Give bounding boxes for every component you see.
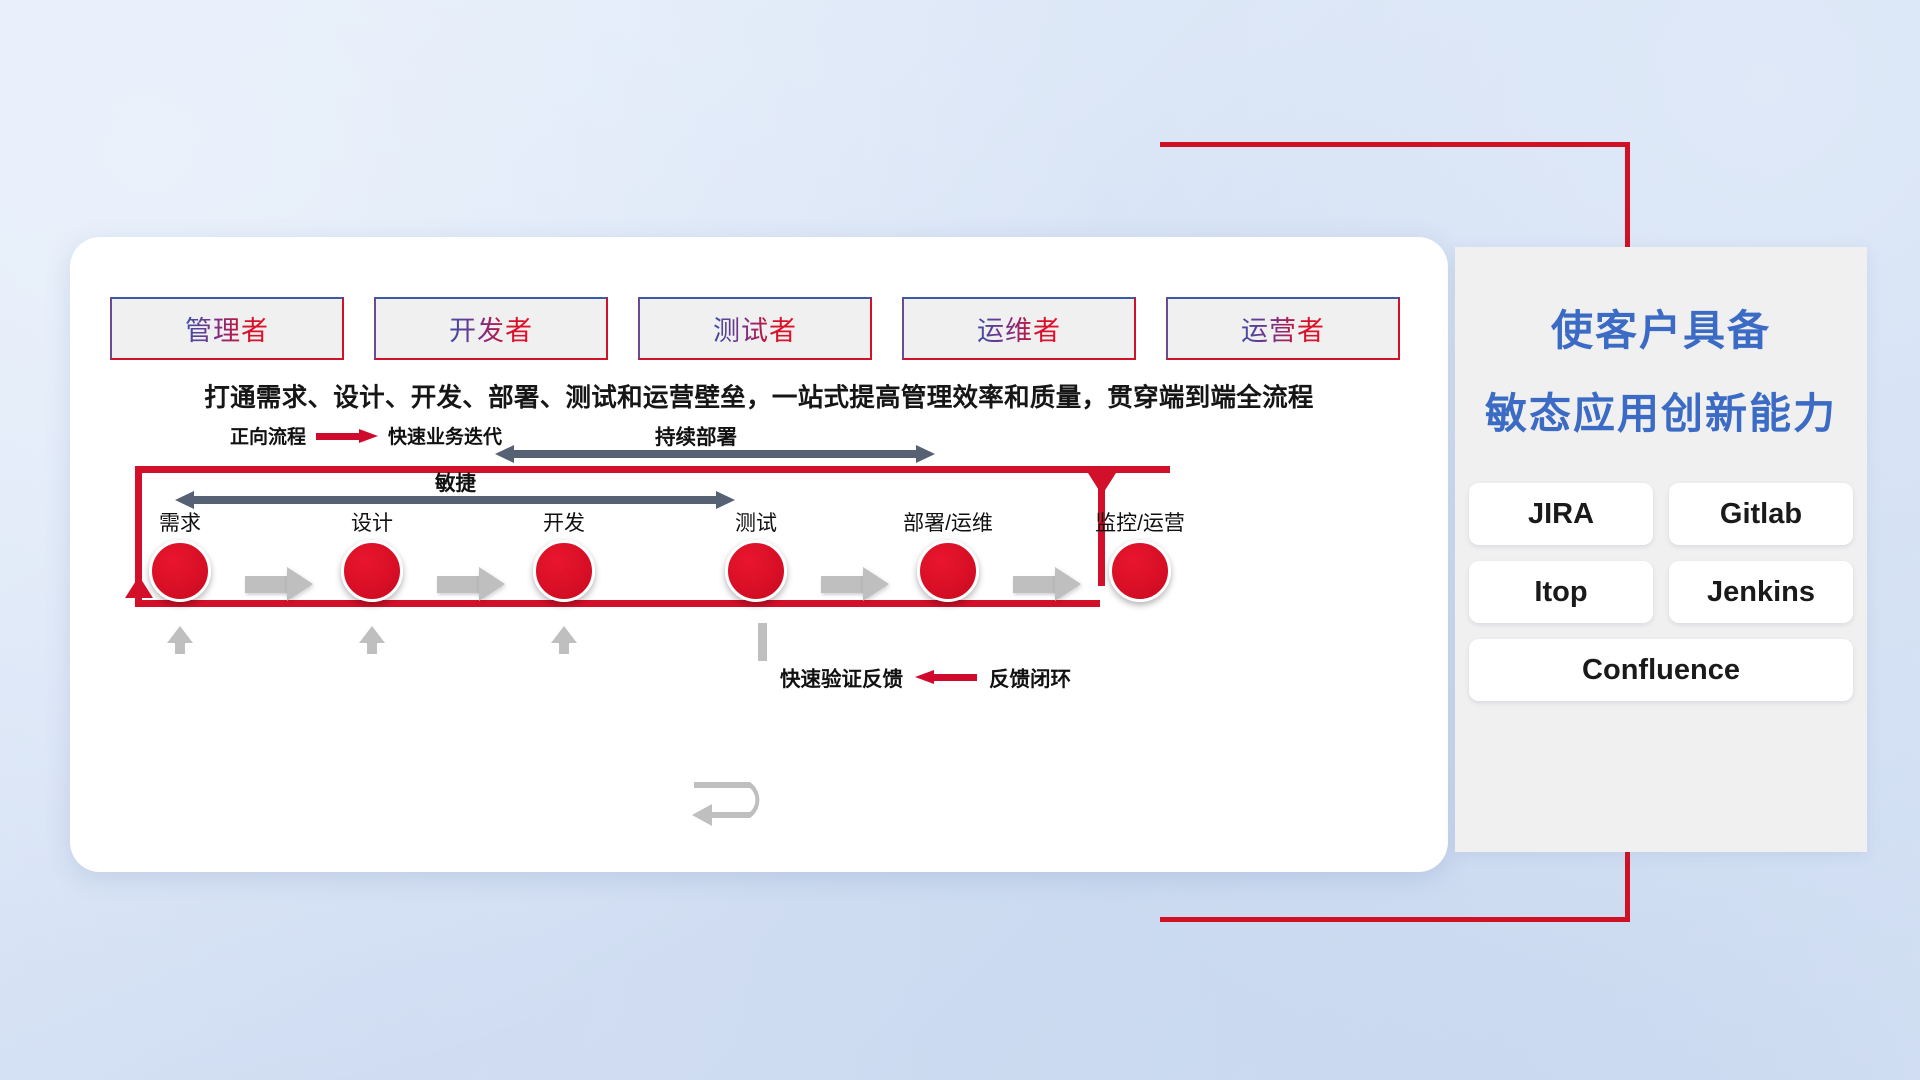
- arrow-tip: [551, 626, 577, 643]
- stage-node-4[interactable]: 部署/运维: [883, 507, 1013, 602]
- stage-label: 部署/运维: [883, 507, 1013, 537]
- stage-dot: [341, 540, 403, 602]
- role-label: 运营者: [1241, 309, 1325, 348]
- roles-row: 管理者 开发者 测试者 运维者 运营者: [110, 297, 1400, 360]
- stage-label: 需求: [115, 507, 245, 537]
- legend-feedback-loop: 快速验证反馈 反馈闭环: [780, 662, 1071, 692]
- tool-chip-itop[interactable]: Itop: [1469, 561, 1653, 623]
- stage-node-2[interactable]: 开发: [499, 507, 629, 602]
- arrow-tip: [863, 567, 889, 601]
- tool-chip-jira[interactable]: JIRA: [1469, 483, 1653, 545]
- legend-feedback-right-label: 反馈闭环: [989, 662, 1071, 692]
- legend-forward-right-label: 快速业务迭代: [388, 422, 502, 449]
- role-box-3[interactable]: 运维者: [902, 297, 1136, 360]
- arrow-tip: [359, 626, 385, 643]
- legend-forward-flow: 正向流程 快速业务迭代: [230, 422, 502, 449]
- stage-dot: [725, 540, 787, 602]
- main-diagram-card: 管理者 开发者 测试者 运维者 运营者 打通需求、设计、开发、部署、测试和运营壁…: [70, 237, 1448, 872]
- stage-label: 监控/运营: [1075, 507, 1205, 537]
- role-label: 开发者: [449, 309, 533, 348]
- tool-chip-jenkins[interactable]: Jenkins: [1669, 561, 1853, 623]
- loop-back-arrow-icon: [688, 782, 774, 838]
- tool-chip-grid: JIRA Gitlab Itop Jenkins Confluence: [1455, 483, 1867, 701]
- stage-node-0[interactable]: 需求: [115, 507, 245, 602]
- double-arrow-continuous-deployment-icon: [495, 445, 935, 463]
- stage-dot: [1109, 540, 1171, 602]
- feedback-up-arrow-2-icon: [551, 626, 577, 652]
- role-label: 运维者: [977, 309, 1061, 348]
- red-loop-down-arrowhead-icon: [1088, 473, 1116, 495]
- side-panel-title: 使客户具备 敏态应用创新能力: [1455, 297, 1867, 441]
- side-panel-title-line2: 敏态应用创新能力: [1455, 380, 1867, 441]
- stage-dot: [917, 540, 979, 602]
- stage-node-3[interactable]: 测试: [691, 507, 821, 602]
- role-label: 管理者: [185, 309, 269, 348]
- stage-label: 开发: [499, 507, 629, 537]
- arrow-tip: [167, 626, 193, 643]
- arrow-shaft: [192, 496, 718, 504]
- flow-arrow-3-4-icon: [821, 567, 889, 601]
- legend-feedback-left-label: 快速验证反馈: [780, 662, 903, 692]
- tool-chip-confluence[interactable]: Confluence: [1469, 639, 1853, 701]
- stage-label: 设计: [307, 507, 437, 537]
- arrow-bar: [821, 576, 865, 593]
- tool-chip-gitlab[interactable]: Gitlab: [1669, 483, 1853, 545]
- role-box-4[interactable]: 运营者: [1166, 297, 1400, 360]
- flow-arrow-4-5-icon: [1013, 567, 1081, 601]
- arrow-bar: [245, 576, 289, 593]
- feedback-up-arrow-0-icon: [167, 626, 193, 652]
- arrow-stem: [559, 642, 569, 654]
- role-box-1[interactable]: 开发者: [374, 297, 608, 360]
- role-box-0[interactable]: 管理者: [110, 297, 344, 360]
- test-drop-connector: [758, 623, 767, 661]
- stage-node-1[interactable]: 设计: [307, 507, 437, 602]
- legend-forward-left-label: 正向流程: [230, 422, 306, 449]
- side-panel-title-line1: 使客户具备: [1455, 297, 1867, 358]
- arrow-bar: [1013, 576, 1057, 593]
- red-loop-top-segment: [135, 466, 1170, 473]
- stage-dot: [149, 540, 211, 602]
- feedback-up-arrow-1-icon: [359, 626, 385, 652]
- arrow-tip: [1055, 567, 1081, 601]
- arrow-stem: [175, 642, 185, 654]
- stage-dot: [533, 540, 595, 602]
- arrow-left-red-icon: [915, 670, 977, 684]
- description-text: 打通需求、设计、开发、部署、测试和运营壁垒，一站式提高管理效率和质量，贯穿端到端…: [70, 377, 1448, 414]
- arrow-stem: [367, 642, 377, 654]
- flow-arrow-0-1-icon: [245, 567, 313, 601]
- role-label: 测试者: [713, 309, 797, 348]
- arrow-shaft: [512, 450, 918, 458]
- side-panel: 使客户具备 敏态应用创新能力 JIRA Gitlab Itop Jenkins …: [1455, 247, 1867, 852]
- role-box-2[interactable]: 测试者: [638, 297, 872, 360]
- arrow-right-red-icon: [316, 429, 378, 443]
- stage-node-5[interactable]: 监控/运营: [1075, 507, 1205, 602]
- arrow-tip: [479, 567, 505, 601]
- arrow-head-right: [916, 445, 935, 463]
- arrow-tip: [287, 567, 313, 601]
- flow-arrow-1-2-icon: [437, 567, 505, 601]
- stage-pipeline: 需求 设计 开发 测试 部署/运维 监控/运营: [110, 507, 1210, 627]
- arrow-bar: [437, 576, 481, 593]
- stage-label: 测试: [691, 507, 821, 537]
